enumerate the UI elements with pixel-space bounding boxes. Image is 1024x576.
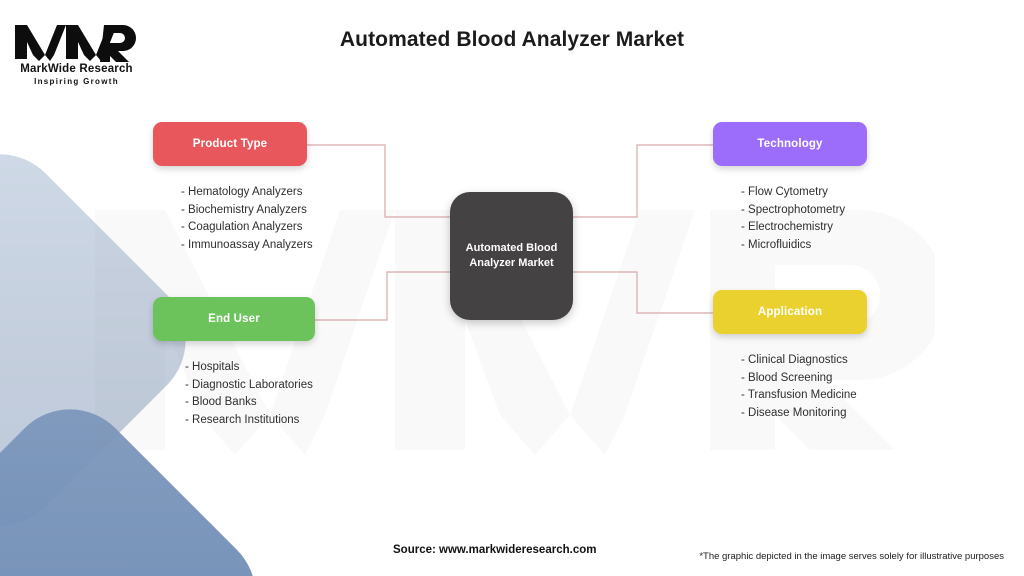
category-application: Application - Clinical Diagnostics - Blo… bbox=[713, 290, 867, 422]
list-item: - Blood Screening bbox=[741, 370, 867, 388]
list-item: - Research Institutions bbox=[185, 412, 315, 430]
category-label-end-user: End User bbox=[208, 313, 260, 325]
list-item: - Spectrophotometry bbox=[741, 202, 867, 220]
connector-technology bbox=[573, 145, 713, 217]
page-title: Automated Blood Analyzer Market bbox=[0, 28, 1024, 52]
connector-application bbox=[573, 272, 713, 313]
category-label-technology: Technology bbox=[757, 138, 822, 150]
category-header-technology[interactable]: Technology bbox=[713, 122, 867, 166]
list-item: - Immunoassay Analyzers bbox=[181, 237, 313, 255]
list-item: - Flow Cytometry bbox=[741, 184, 867, 202]
list-item: - Disease Monitoring bbox=[741, 405, 867, 423]
category-label-application: Application bbox=[758, 306, 822, 318]
category-end-user: End User - Hospitals - Diagnostic Labora… bbox=[153, 297, 315, 429]
category-header-product-type[interactable]: Product Type bbox=[153, 122, 307, 166]
brand-name: MarkWide Research bbox=[14, 63, 139, 75]
list-item: - Blood Banks bbox=[185, 394, 315, 412]
disclaimer-text: *The graphic depicted in the image serve… bbox=[699, 551, 1004, 562]
category-items-technology: - Flow Cytometry - Spectrophotometry - E… bbox=[713, 184, 867, 254]
list-item: - Transfusion Medicine bbox=[741, 387, 867, 405]
brand-tagline: Inspiring Growth bbox=[14, 77, 139, 86]
category-technology: Technology - Flow Cytometry - Spectropho… bbox=[713, 122, 867, 254]
category-product-type: Product Type - Hematology Analyzers - Bi… bbox=[153, 122, 313, 254]
connector-end-user bbox=[315, 272, 450, 320]
source-text: Source: www.markwideresearch.com bbox=[393, 544, 596, 556]
category-label-product-type: Product Type bbox=[193, 138, 267, 150]
list-item: - Coagulation Analyzers bbox=[181, 219, 313, 237]
center-node-label: Automated Blood Analyzer Market bbox=[450, 241, 573, 271]
category-items-end-user: - Hospitals - Diagnostic Laboratories - … bbox=[153, 359, 315, 429]
list-item: - Hospitals bbox=[185, 359, 315, 377]
connector-product-type bbox=[307, 145, 450, 217]
list-item: - Biochemistry Analyzers bbox=[181, 202, 313, 220]
center-node: Automated Blood Analyzer Market bbox=[450, 192, 573, 320]
list-item: - Diagnostic Laboratories bbox=[185, 377, 315, 395]
list-item: - Clinical Diagnostics bbox=[741, 352, 867, 370]
list-item: - Electrochemistry bbox=[741, 219, 867, 237]
category-header-application[interactable]: Application bbox=[713, 290, 867, 334]
category-items-application: - Clinical Diagnostics - Blood Screening… bbox=[713, 352, 867, 422]
infographic-canvas: MarkWide Research Inspiring Growth Autom… bbox=[0, 0, 1024, 576]
category-items-product-type: - Hematology Analyzers - Biochemistry An… bbox=[153, 184, 313, 254]
list-item: - Hematology Analyzers bbox=[181, 184, 313, 202]
category-header-end-user[interactable]: End User bbox=[153, 297, 315, 341]
list-item: - Microfluidics bbox=[741, 237, 867, 255]
